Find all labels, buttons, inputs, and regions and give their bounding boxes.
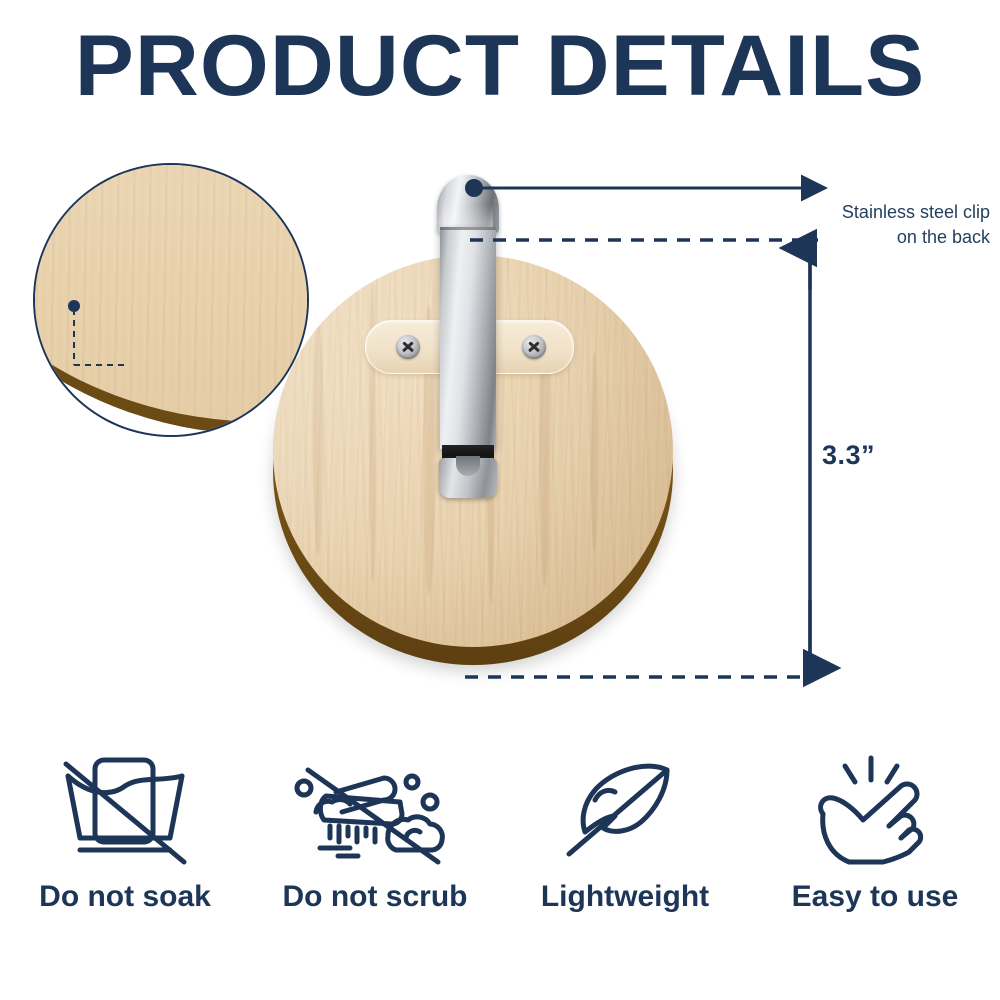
height-dimension-label: 3.3” [822, 440, 875, 471]
page-title: PRODUCT DETAILS [0, 18, 1000, 114]
clip-callout-line1: Stainless steel clip [800, 200, 990, 225]
tap-hand-icon [805, 752, 945, 868]
clip-callout-text: Stainless steel clip on the back [800, 200, 990, 250]
feature-label: Easy to use [792, 880, 959, 914]
thickness-detail-magnifier: thickness: 6mm [33, 163, 309, 437]
feature-do-not-soak: Do not soak [0, 752, 250, 914]
feature-easy-to-use: Easy to use [750, 752, 1000, 914]
screw-right-icon [522, 335, 546, 359]
clip-hook [437, 175, 499, 233]
clip-foot [439, 458, 497, 498]
product-details-infographic: PRODUCT DETAILS [0, 0, 1000, 1000]
clip-body [440, 227, 496, 449]
stainless-steel-clip [436, 175, 500, 481]
feature-label: Lightweight [541, 880, 709, 914]
feature-do-not-scrub: Do not scrub [250, 752, 500, 914]
clip-callout-line2: on the back [800, 225, 990, 250]
screw-left-icon [396, 335, 420, 359]
feather-icon [555, 752, 695, 868]
feature-row: Do not soak [0, 752, 1000, 914]
feature-lightweight: Lightweight [500, 752, 750, 914]
feature-label: Do not scrub [283, 880, 468, 914]
thickness-leader-line [35, 165, 309, 437]
no-soak-icon [50, 752, 200, 868]
feature-label: Do not soak [39, 880, 211, 914]
no-scrub-icon [280, 752, 470, 868]
